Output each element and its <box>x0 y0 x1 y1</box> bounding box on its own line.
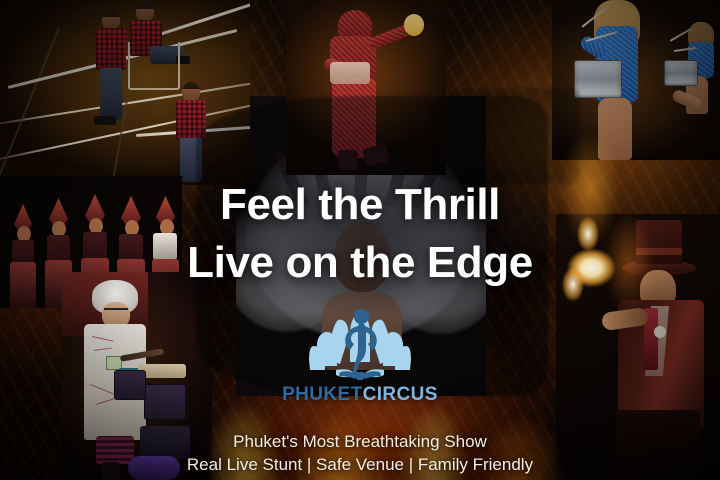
wordmark-phuket: PHUKET <box>282 384 363 405</box>
brand-logo-block: PHUKETCIRCUS <box>0 304 720 406</box>
headline-line-2: Live on the Edge <box>0 234 720 292</box>
tagline: Phuket's Most Breathtaking Show Real Liv… <box>0 430 720 476</box>
promo-poster: Feel the Thrill Live on the Edge <box>0 0 720 480</box>
headline: Feel the Thrill Live on the Edge <box>0 176 720 292</box>
circus-shell-acrobat-logo-icon <box>306 304 414 382</box>
headline-line-1: Feel the Thrill <box>0 176 720 234</box>
tagline-line-2: Real Live Stunt | Safe Venue | Family Fr… <box>0 453 720 476</box>
tagline-line-1: Phuket's Most Breathtaking Show <box>0 430 720 453</box>
wordmark-circus: CIRCUS <box>363 384 438 405</box>
brand-wordmark: PHUKETCIRCUS <box>282 384 438 406</box>
